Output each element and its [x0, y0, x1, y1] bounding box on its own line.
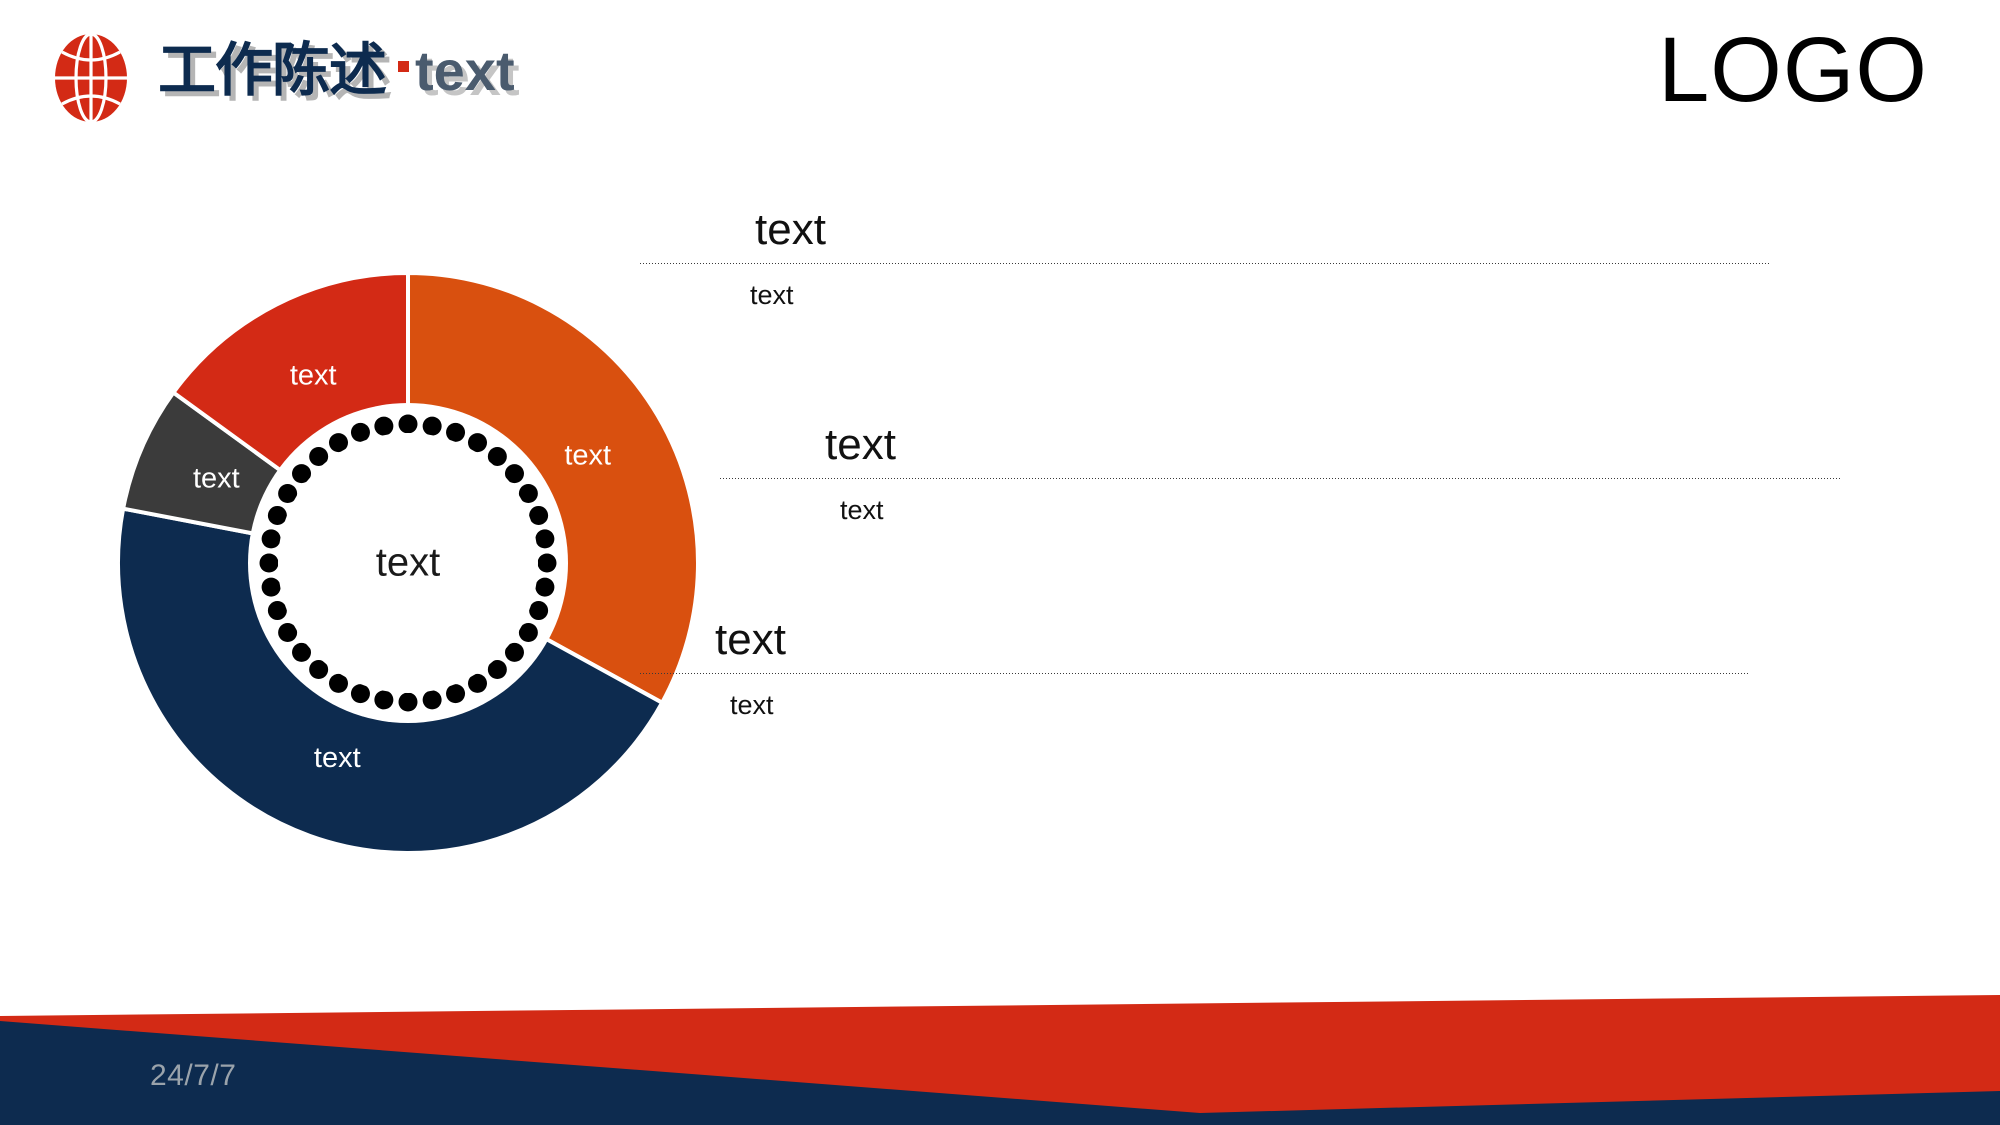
content-block-divider	[720, 477, 1840, 479]
donut-chart: texttexttexttext text	[108, 263, 708, 863]
content-block[interactable]: texttext	[720, 411, 1840, 526]
content-block-divider	[640, 672, 1748, 674]
scallop-dot	[446, 684, 465, 703]
content-block-title-row: text	[720, 411, 1840, 467]
scallop-dot	[262, 578, 281, 597]
scallop-dot	[535, 578, 554, 597]
scallop-dot	[260, 554, 279, 573]
slide-header: 工作陈述 text LOGO	[0, 0, 2000, 150]
content-block-title-row: text	[640, 606, 1748, 662]
content-block-title: text	[715, 618, 786, 662]
logo-placeholder: LOGO	[1658, 22, 1928, 119]
content-block-subtitle: text	[730, 690, 1748, 721]
scallop-dot	[399, 415, 418, 434]
scallop-dot	[351, 684, 370, 703]
content-block-divider	[640, 262, 1770, 264]
scallop-dot	[529, 601, 548, 620]
content-block[interactable]: texttext	[640, 606, 1748, 721]
donut-slice-label: text	[290, 360, 337, 392]
scallop-dot	[538, 554, 557, 573]
scallop-dot	[262, 529, 281, 548]
content-block-subtitle: text	[840, 495, 1840, 526]
red-square-dot-icon	[398, 61, 409, 72]
donut-slice-label: text	[193, 463, 240, 495]
content-block-title: text	[825, 423, 896, 467]
scallop-dot	[423, 690, 442, 709]
donut-center-label: text	[376, 541, 440, 585]
scallop-dot	[351, 423, 370, 442]
scallop-dot	[529, 506, 548, 525]
scallop-dot	[423, 417, 442, 436]
page-title-cn: 工作陈述	[158, 42, 386, 100]
scallop-dot	[268, 601, 287, 620]
scallop-dot	[374, 690, 393, 709]
donut-slice-label: text	[564, 439, 611, 471]
page-title-en: text	[415, 43, 515, 99]
footer-date: 24/7/7	[150, 1059, 236, 1093]
content-block[interactable]: texttext	[640, 196, 1770, 311]
content-block-title: text	[755, 208, 826, 252]
scallop-dot	[374, 417, 393, 436]
globe-icon	[48, 30, 134, 126]
page-title: 工作陈述 text	[158, 31, 515, 111]
scallop-dot	[268, 506, 287, 525]
donut-slice-label: text	[314, 742, 361, 774]
content-block-subtitle: text	[750, 280, 1770, 311]
scallop-dot	[399, 693, 418, 712]
content-block-title-row: text	[640, 196, 1770, 252]
scallop-dot	[446, 423, 465, 442]
footer-decoration: 24/7/7	[0, 995, 2000, 1125]
scallop-dot	[535, 529, 554, 548]
